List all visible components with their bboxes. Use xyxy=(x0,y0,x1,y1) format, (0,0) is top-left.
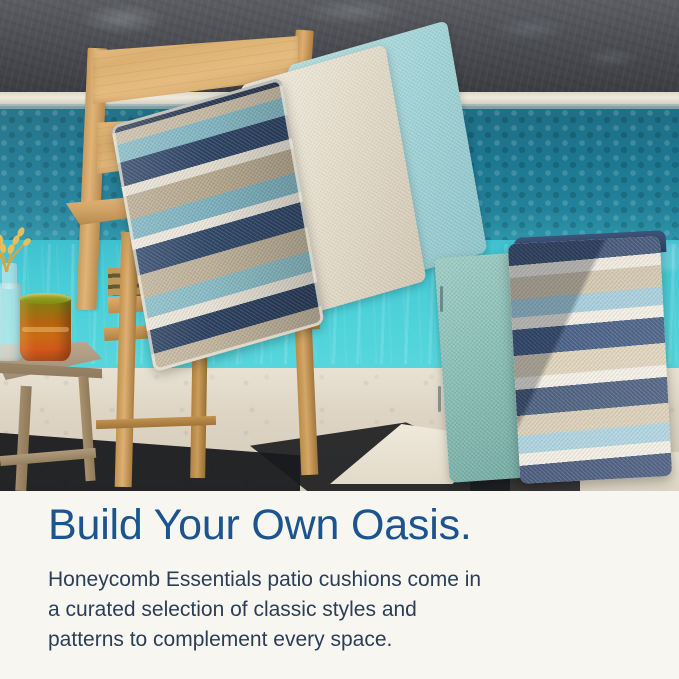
product-lifestyle-banner: Build Your Own Oasis. Honeycomb Essentia… xyxy=(0,0,679,679)
body-copy: Honeycomb Essentials patio cushions come… xyxy=(48,565,608,655)
cushion-stack-on-chair xyxy=(97,24,492,370)
dried-wheat-icon xyxy=(0,222,50,272)
copy-panel: Build Your Own Oasis. Honeycomb Essentia… xyxy=(0,491,679,679)
body-copy-line-2: a curated selection of classic styles an… xyxy=(48,595,608,625)
stripe-sun-shadow xyxy=(508,236,672,484)
body-copy-line-1: Honeycomb Essentials patio cushions come… xyxy=(48,565,608,595)
body-copy-line-3: patterns to complement every space. xyxy=(48,625,608,655)
cushion-stack-on-deck xyxy=(436,236,676,486)
amber-glass-rim xyxy=(20,293,71,304)
cushion-tie xyxy=(440,286,443,312)
lifestyle-photo xyxy=(0,0,679,491)
page-title: Build Your Own Oasis. xyxy=(48,503,472,548)
striped-cushion-deck xyxy=(508,236,672,484)
cushion-tie xyxy=(438,386,441,412)
amber-glass-highlight xyxy=(22,327,69,332)
vase-body xyxy=(0,283,22,361)
